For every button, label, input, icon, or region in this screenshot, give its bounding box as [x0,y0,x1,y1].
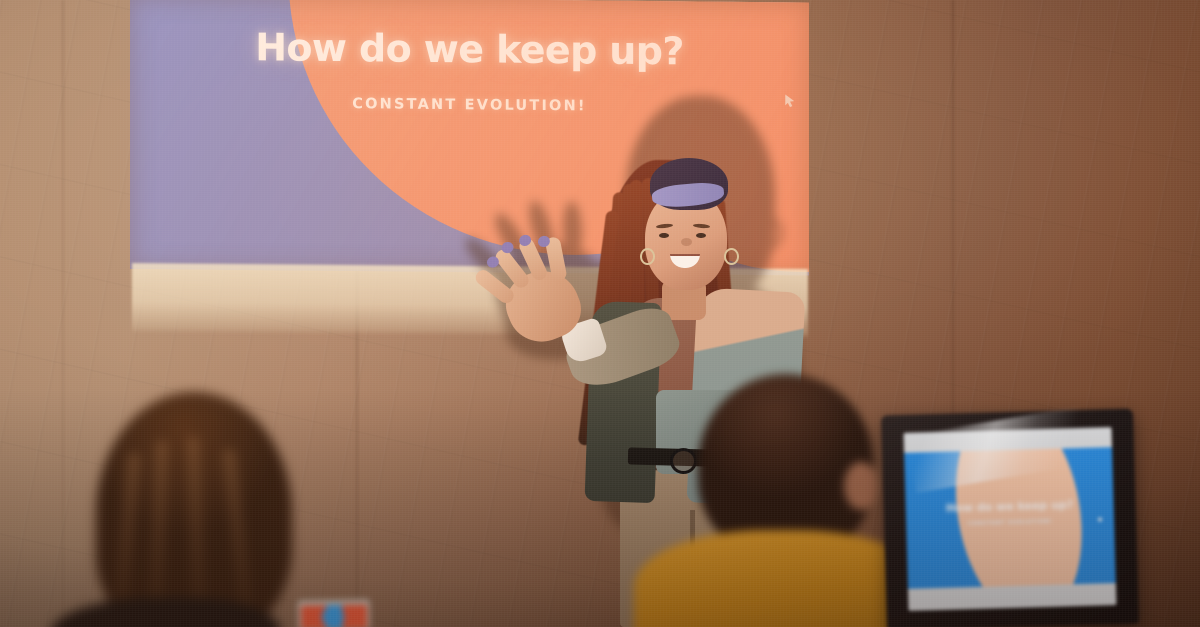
presentation-scene: How do we keep up? CONSTANT EVOLUTION! [0,0,1200,627]
tablet-device[interactable] [298,599,371,627]
audience-right-ear [844,462,878,510]
audience-right-head [698,374,874,556]
monitor-slide: How do we keep up? CONSTANT EVOLUTION! [904,447,1116,589]
presenter-eye [659,233,669,238]
presenter-nose [681,238,692,246]
presenter-earring [640,248,655,265]
audience-member-left [90,392,350,627]
confidence-monitor[interactable]: How do we keep up? CONSTANT EVOLUTION! [881,409,1139,627]
slide-title: How do we keep up? [130,24,809,75]
monitor-screen[interactable]: How do we keep up? CONSTANT EVOLUTION! [904,427,1117,611]
presenter-eye [696,233,706,238]
presenter-earring [724,248,739,265]
tablet-screen-shape [322,606,344,627]
